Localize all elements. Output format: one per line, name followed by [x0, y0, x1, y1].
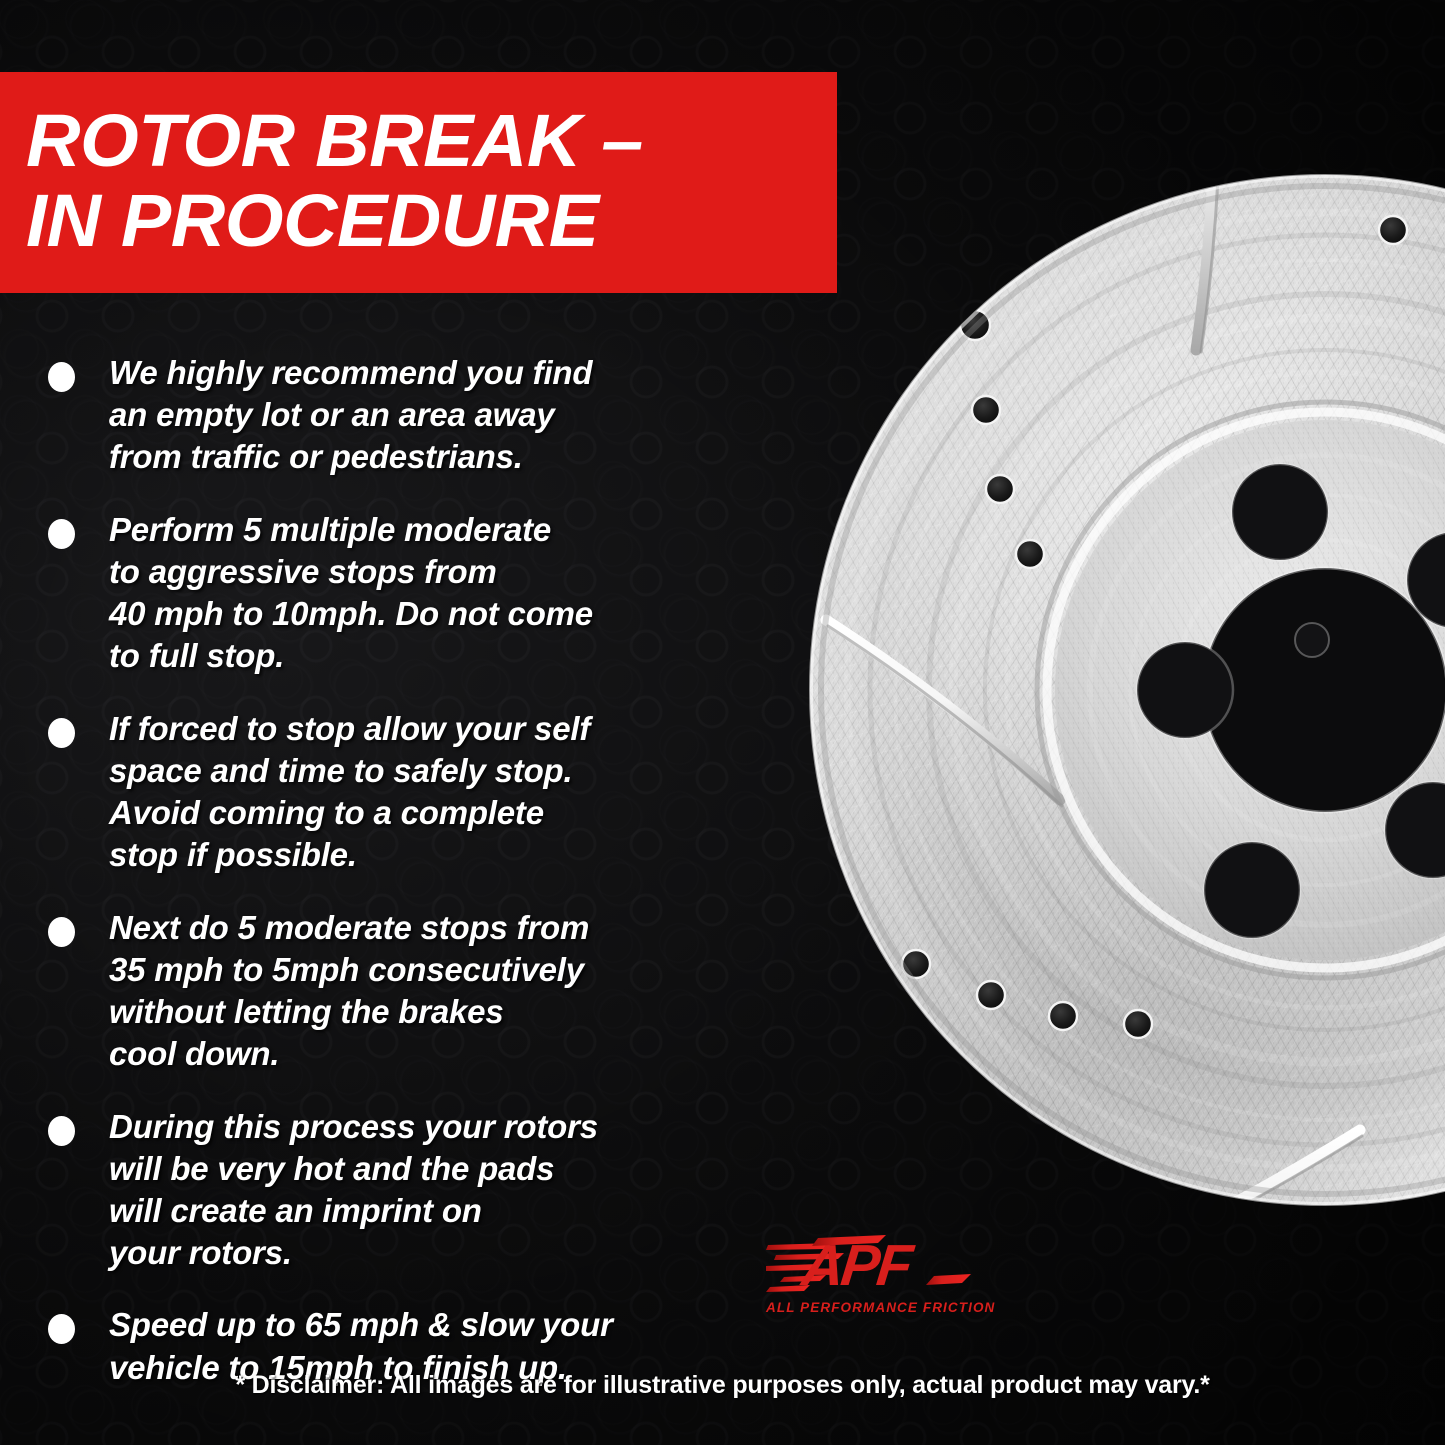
bullet-dot-icon: [48, 1116, 75, 1146]
bullet-dot-icon: [48, 519, 75, 549]
apf-logo: APF ALL PERFORMANCE FRICTION: [766, 1232, 981, 1328]
list-item-text: During this process your rotors will be …: [109, 1106, 598, 1275]
list-item: Perform 5 multiple moderate to aggressiv…: [48, 509, 778, 678]
bullet-dot-icon: [48, 362, 75, 392]
list-item-text: Next do 5 moderate stops from 35 mph to …: [109, 907, 589, 1076]
list-item: During this process your rotors will be …: [48, 1106, 778, 1275]
list-item: We highly recommend you find an empty lo…: [48, 352, 778, 479]
list-item-text: If forced to stop allow your self space …: [109, 708, 590, 877]
list-item-text: Perform 5 multiple moderate to aggressiv…: [109, 509, 593, 678]
list-item-text: We highly recommend you find an empty lo…: [109, 352, 592, 479]
apf-tagline: ALL PERFORMANCE FRICTION: [766, 1300, 981, 1315]
page-title-line-1: ROTOR BREAK –: [26, 104, 853, 178]
poster-canvas: ROTOR BREAK – IN PROCEDURE We highly rec…: [0, 0, 1445, 1445]
disclaimer-text: * Disclaimer: All images are for illustr…: [0, 1371, 1445, 1400]
page-title-line-2: IN PROCEDURE: [26, 184, 853, 258]
bullet-dot-icon: [48, 917, 75, 947]
list-item: If forced to stop allow your self space …: [48, 708, 778, 877]
title-banner: ROTOR BREAK – IN PROCEDURE: [0, 72, 837, 293]
list-item: Next do 5 moderate stops from 35 mph to …: [48, 907, 778, 1076]
instruction-list: We highly recommend you find an empty lo…: [48, 352, 778, 1419]
bullet-dot-icon: [48, 718, 75, 748]
bullet-dot-icon: [48, 1314, 75, 1344]
